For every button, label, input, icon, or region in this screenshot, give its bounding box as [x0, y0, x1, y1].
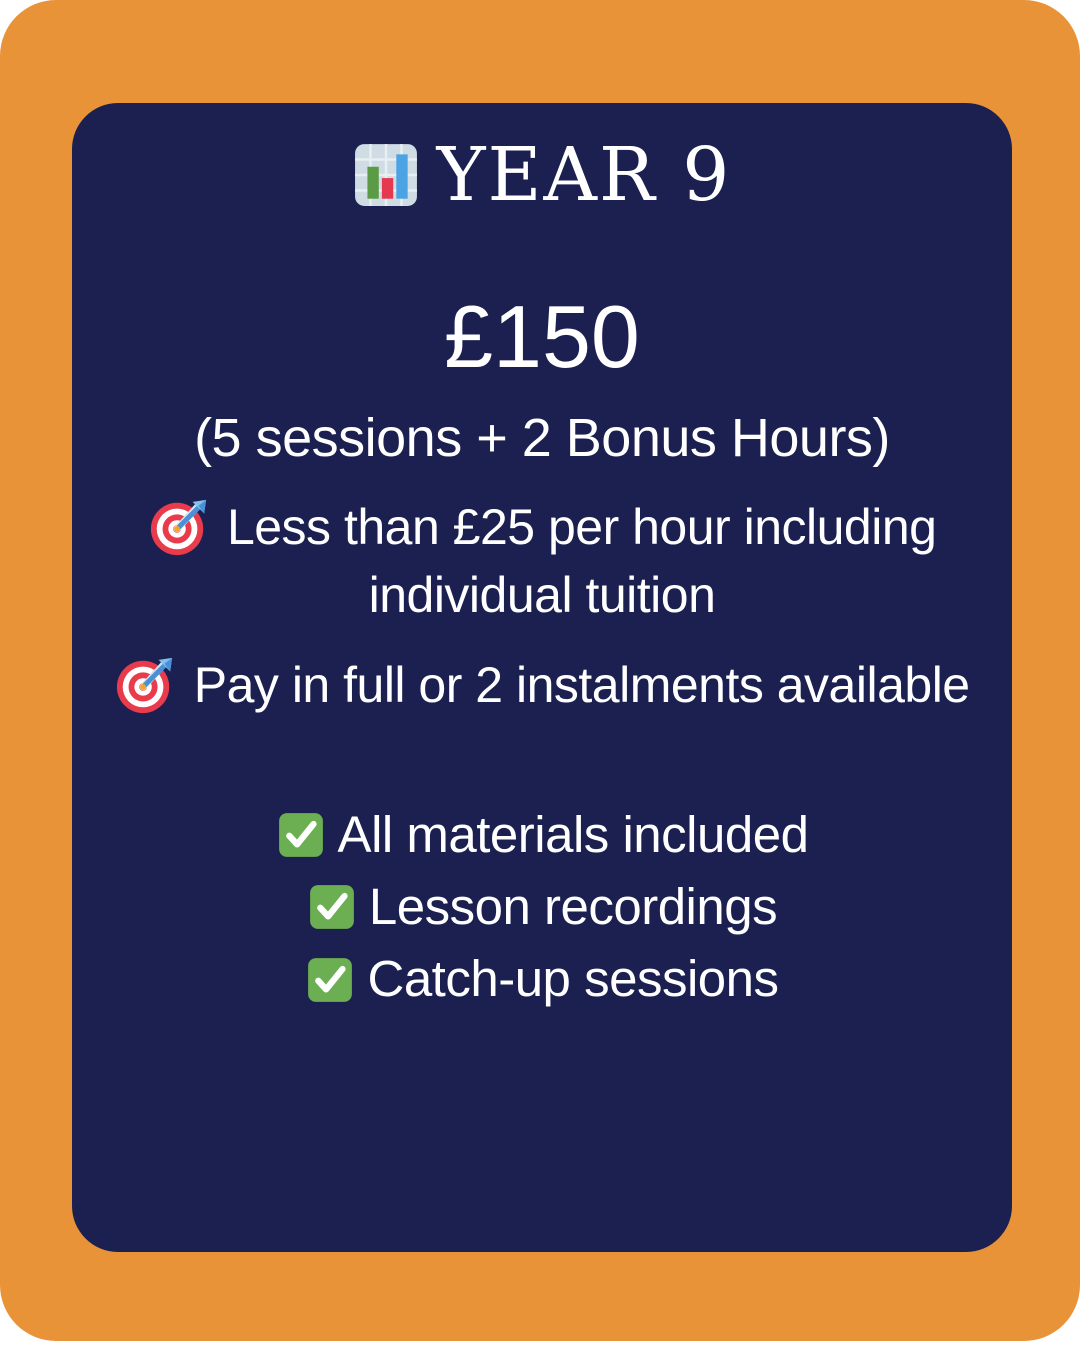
list-item: All materials included [102, 805, 982, 865]
check-mark-icon [276, 810, 326, 860]
list-item: Catch-up sessions [102, 949, 982, 1009]
page-title: YEAR 9 [437, 138, 732, 212]
list-item-label: Lesson recordings [369, 877, 777, 937]
price-block: £150 (5 sessions + 2 Bonus Hours) [72, 293, 1012, 469]
price-detail: (5 sessions + 2 Bonus Hours) [72, 407, 1012, 469]
features-checklist: All materials included Lesson recordings… [72, 805, 1012, 1010]
bar-chart-icon [353, 142, 419, 208]
list-item-label: All materials included [338, 805, 809, 865]
list-item: Lesson recordings [102, 877, 982, 937]
benefit-text: Less than £25 per hour including individ… [227, 499, 937, 623]
pricing-card: YEAR 9 £150 (5 sessions + 2 Bonus Hours) [72, 103, 1012, 1252]
price-amount: £150 [72, 293, 1012, 381]
target-icon [148, 496, 210, 558]
benefits-section: Less than £25 per hour including individ… [72, 493, 1012, 719]
benefit-text: Pay in full or 2 instalments available [194, 657, 970, 713]
check-mark-icon [305, 955, 355, 1005]
check-mark-icon [307, 882, 357, 932]
target-icon [114, 654, 176, 716]
card-header: YEAR 9 [72, 125, 1012, 225]
list-item-label: Catch-up sessions [367, 949, 778, 1009]
orange-background-panel: YEAR 9 £150 (5 sessions + 2 Bonus Hours) [0, 0, 1080, 1341]
benefit-item: Pay in full or 2 instalments available [98, 651, 986, 719]
benefit-item: Less than £25 per hour including individ… [98, 493, 986, 629]
pricing-card-canvas: YEAR 9 £150 (5 sessions + 2 Bonus Hours) [0, 0, 1080, 1350]
